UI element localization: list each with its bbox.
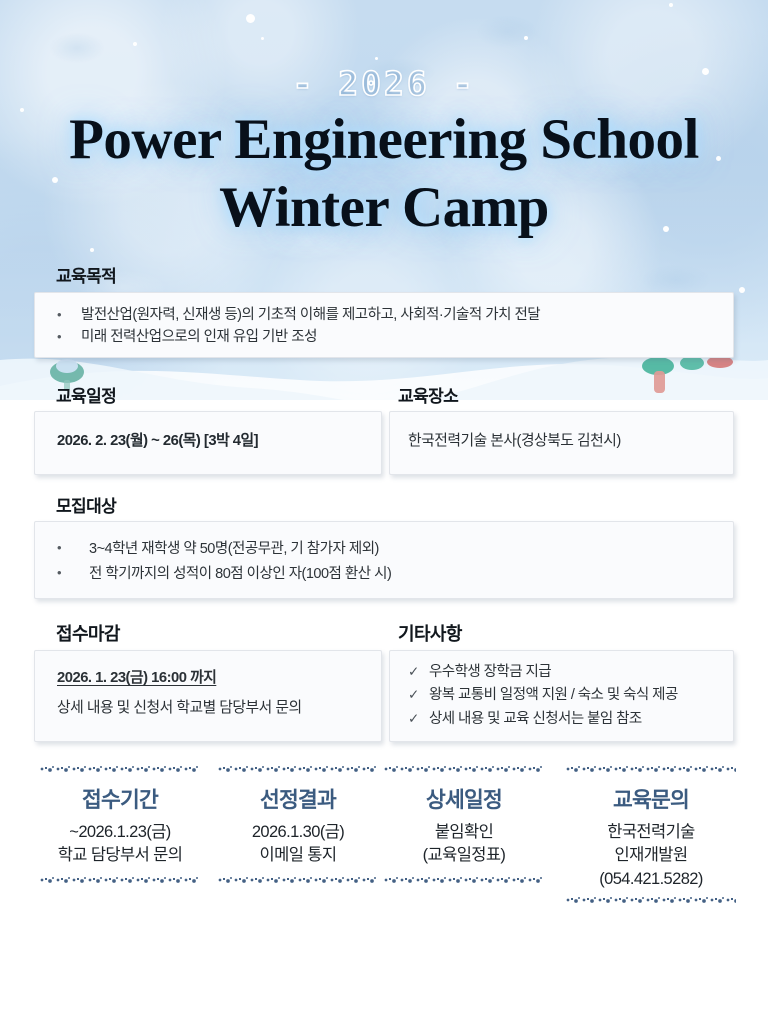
card-etc: ✓ 우수학생 장학금 지급 ✓ 왕복 교통비 일정액 지원 / 숙소 및 숙식 … [389, 650, 734, 742]
deadline-date: 2026. 1. 23(금) 16:00 까지 [57, 667, 359, 691]
place-value: 한국전력기술 본사(경상북도 김천시) [408, 430, 715, 454]
card-target: • 3~4학년 재학생 약 50명(전공무관, 기 참가자 제외) • 전 학기… [34, 521, 734, 599]
section-label-target: 모집대상 [56, 492, 116, 517]
check-text: 우수학생 장학금 지급 [429, 661, 551, 684]
footer-column-line: (054.421.5282) [566, 868, 736, 891]
footer-column-inquiry: 교육문의 한국전력기술 인재개발원 (054.421.5282) [566, 765, 736, 905]
snowflake-dot [90, 248, 94, 252]
bullet-dot-icon: • [57, 326, 81, 347]
footer-column-title: 접수기간 [40, 783, 200, 814]
dotted-divider-bottom [40, 876, 200, 885]
dotted-divider-bottom [218, 876, 378, 885]
footer-column-line: 이메일 통지 [218, 844, 378, 867]
footer-column-line: 인재개발원 [566, 844, 736, 867]
card-place: 한국전력기술 본사(경상북도 김천시) [389, 411, 734, 475]
check-icon: ✓ [408, 708, 429, 730]
bullet-item: • 전 학기까지의 성적이 80점 이상인 자(100점 환산 시) [57, 562, 711, 587]
section-label-place: 교육장소 [398, 382, 458, 407]
footer-column-title: 선정결과 [218, 783, 378, 814]
snowflake-dot [669, 3, 673, 7]
dotted-divider-top [40, 765, 200, 774]
snowflake-dot [261, 37, 264, 40]
title-line-2: Winter Camp [0, 174, 768, 242]
poster-root: - 2026 - Power Engineering School Winter… [0, 0, 768, 1024]
section-label-etc: 기타사항 [398, 620, 462, 646]
bullet-dot-icon: • [57, 304, 81, 325]
snowflake-dot [133, 42, 137, 46]
check-text: 상세 내용 및 교육 신청서는 붙임 참조 [429, 708, 642, 731]
check-item: ✓ 우수학생 장학금 지급 [408, 661, 715, 684]
footer-column-line: 2026.1.30(금) [218, 821, 378, 844]
page-title: Power Engineering School Winter Camp [0, 106, 768, 243]
footer-column-line: 학교 담당부서 문의 [40, 844, 200, 867]
bullet-text: 발전산업(원자력, 신재생 등)의 기초적 이해를 제고하고, 사회적·기술적 … [81, 304, 711, 326]
section-label-deadline: 접수마감 [56, 620, 120, 646]
schedule-value: 2026. 2. 23(월) ~ 26(목) [3박 4일] [57, 430, 359, 454]
dotted-divider-bottom [384, 876, 544, 885]
check-item: ✓ 왕복 교통비 일정액 지원 / 숙소 및 숙식 제공 [408, 684, 715, 707]
bullet-item: • 3~4학년 재학생 약 50명(전공무관, 기 참가자 제외) [57, 537, 711, 562]
footer-column-application-period: 접수기간 ~2026.1.23(금) 학교 담당부서 문의 [40, 765, 200, 885]
footer-column-title: 상세일정 [384, 783, 544, 814]
card-purpose: • 발전산업(원자력, 신재생 등)의 기초적 이해를 제고하고, 사회적·기술… [34, 292, 734, 358]
bullet-dot-icon: • [57, 537, 89, 558]
bullet-item: • 발전산업(원자력, 신재생 등)의 기초적 이해를 제고하고, 사회적·기술… [57, 304, 711, 326]
check-text: 왕복 교통비 일정액 지원 / 숙소 및 숙식 제공 [429, 684, 678, 707]
bullet-text: 전 학기까지의 성적이 80점 이상인 자(100점 환산 시) [89, 562, 711, 587]
bullet-text: 3~4학년 재학생 약 50명(전공무관, 기 참가자 제외) [89, 537, 711, 562]
check-icon: ✓ [408, 684, 429, 706]
bullet-dot-icon: • [57, 562, 89, 583]
dotted-divider-top [218, 765, 378, 774]
year-label: - 2026 - [0, 64, 768, 103]
snowflake-dot [246, 14, 255, 23]
card-deadline: 2026. 1. 23(금) 16:00 까지 상세 내용 및 신청서 학교별 … [34, 650, 382, 742]
dotted-divider-top [566, 765, 736, 774]
footer-column-line: ~2026.1.23(금) [40, 821, 200, 844]
footer-column-detailed-schedule: 상세일정 붙임확인 (교육일정표) [384, 765, 544, 885]
footer-column-line: 한국전력기술 [566, 821, 736, 844]
bullet-item: • 미래 전력산업으로의 인재 유입 기반 조성 [57, 326, 711, 348]
section-label-purpose: 교육목적 [56, 262, 116, 287]
snowflake-dot [375, 57, 378, 60]
check-item: ✓ 상세 내용 및 교육 신청서는 붙임 참조 [408, 708, 715, 731]
footer-column-line: 붙임확인 [384, 821, 544, 844]
footer-column-title: 교육문의 [566, 783, 736, 814]
title-line-1: Power Engineering School [0, 106, 768, 174]
check-icon: ✓ [408, 661, 429, 683]
deadline-note: 상세 내용 및 신청서 학교별 담당부서 문의 [57, 697, 359, 721]
snowflake-dot [524, 36, 528, 40]
dotted-divider-top [384, 765, 544, 774]
snowflake-dot [739, 287, 745, 293]
bullet-text: 미래 전력산업으로의 인재 유입 기반 조성 [81, 326, 711, 348]
dotted-divider-bottom [566, 896, 736, 905]
card-schedule: 2026. 2. 23(월) ~ 26(목) [3박 4일] [34, 411, 382, 475]
footer-column-selection-result: 선정결과 2026.1.30(금) 이메일 통지 [218, 765, 378, 885]
footer-column-line: (교육일정표) [384, 844, 544, 867]
section-label-schedule: 교육일정 [56, 382, 116, 407]
